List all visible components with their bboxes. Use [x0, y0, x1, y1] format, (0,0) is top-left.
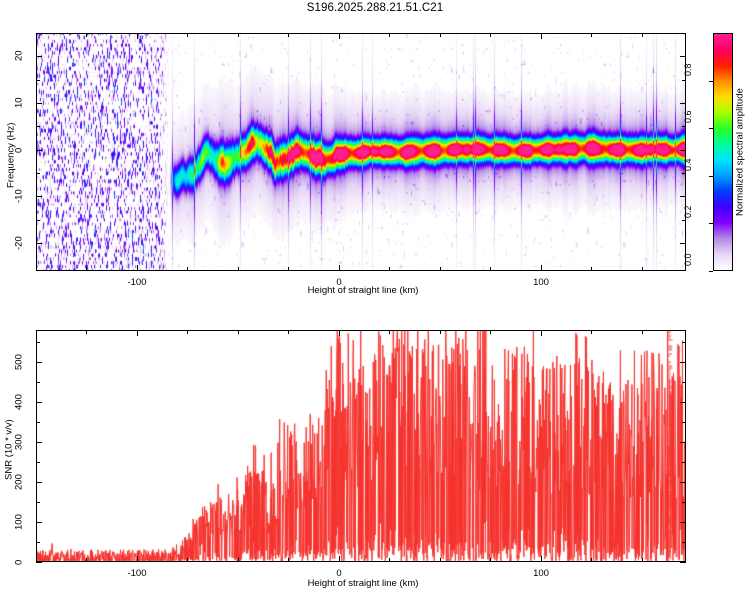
axis-tick — [389, 558, 390, 562]
colorbar-tick-label: 0.6 — [671, 110, 705, 146]
axis-tick — [682, 342, 686, 343]
axis-tick — [36, 196, 42, 197]
axis-tick — [36, 482, 42, 483]
figure-root: S196.2025.288.21.51.C21 -1000100 -20-100… — [0, 0, 750, 600]
axis-tick — [642, 33, 643, 37]
axis-tick-label: 20 — [6, 36, 32, 76]
axis-tick — [137, 33, 138, 39]
axis-tick — [36, 422, 40, 423]
axis-tick — [389, 330, 390, 334]
axis-tick — [490, 330, 491, 334]
axis-tick — [490, 33, 491, 37]
axis-tick — [680, 150, 686, 151]
axis-tick — [288, 267, 289, 271]
axis-tick — [137, 265, 138, 271]
axis-tick — [238, 330, 239, 334]
axis-tick — [541, 265, 542, 271]
colorbar-tick — [709, 81, 713, 82]
axis-tick — [680, 402, 686, 403]
axis-tick — [680, 482, 686, 483]
axis-tick — [36, 173, 40, 174]
axis-tick — [339, 556, 340, 562]
axis-tick — [36, 402, 42, 403]
colorbar-tick-label: 0.4 — [671, 158, 705, 194]
axis-tick — [86, 267, 87, 271]
axis-tick — [490, 558, 491, 562]
axis-tick — [36, 33, 37, 37]
axis-tick — [680, 103, 686, 104]
axis-tick — [36, 522, 42, 523]
axis-tick — [339, 33, 340, 39]
axis-tick — [389, 267, 390, 271]
axis-tick — [36, 362, 42, 363]
axis-tick — [288, 330, 289, 334]
snr-xaxis-title: Height of straight line (km) — [193, 578, 533, 589]
snr-plot-area[interactable] — [36, 330, 686, 562]
axis-tick — [682, 502, 686, 503]
axis-tick — [288, 558, 289, 562]
axis-tick — [642, 330, 643, 334]
axis-tick — [642, 267, 643, 271]
axis-tick — [339, 330, 340, 336]
axis-tick — [682, 462, 686, 463]
axis-tick — [591, 267, 592, 271]
colorbar-gradient — [713, 33, 733, 271]
axis-tick — [36, 462, 40, 463]
axis-tick — [86, 33, 87, 37]
colorbar-tick-label: 0.8 — [671, 63, 705, 99]
spectrogram-plot-area[interactable] — [36, 33, 686, 271]
axis-tick — [680, 196, 686, 197]
axis-tick — [238, 558, 239, 562]
spectrogram-canvas[interactable] — [36, 33, 686, 271]
axis-tick — [389, 33, 390, 37]
axis-tick — [238, 267, 239, 271]
axis-tick — [680, 562, 686, 563]
axis-tick — [288, 33, 289, 37]
axis-tick — [36, 103, 42, 104]
colorbar-tick-label: 0.2 — [671, 205, 705, 241]
axis-tick — [541, 33, 542, 39]
colorbar-tick — [709, 128, 713, 129]
axis-tick — [339, 265, 340, 271]
colorbar-tick-label: 0.0 — [671, 253, 705, 289]
axis-tick — [680, 362, 686, 363]
spectrogram-yaxis-title: Frequency (Hz) — [4, 80, 18, 230]
axis-tick — [187, 267, 188, 271]
axis-tick — [680, 442, 686, 443]
axis-tick — [36, 243, 42, 244]
axis-tick — [490, 267, 491, 271]
colorbar-tick — [709, 223, 713, 224]
axis-tick — [36, 542, 40, 543]
axis-tick — [187, 558, 188, 562]
axis-tick-label: -100 — [107, 277, 167, 288]
colorbar-tick — [709, 176, 713, 177]
axis-tick — [682, 542, 686, 543]
axis-tick — [86, 558, 87, 562]
axis-tick — [682, 382, 686, 383]
axis-tick — [36, 342, 40, 343]
axis-tick — [36, 330, 37, 334]
axis-tick-label: -100 — [107, 568, 167, 579]
figure-title: S196.2025.288.21.51.C21 — [0, 2, 750, 14]
axis-tick — [541, 330, 542, 336]
axis-tick — [440, 267, 441, 271]
axis-tick — [137, 556, 138, 562]
spectrogram-xaxis-title: Height of straight line (km) — [193, 285, 533, 296]
axis-tick — [680, 56, 686, 57]
axis-tick — [36, 442, 42, 443]
axis-tick — [591, 33, 592, 37]
axis-tick — [541, 556, 542, 562]
axis-tick-label: 0 — [6, 542, 32, 582]
axis-tick — [591, 330, 592, 334]
colorbar-tick — [709, 271, 713, 272]
axis-tick — [137, 330, 138, 336]
axis-tick — [86, 330, 87, 334]
axis-tick — [36, 562, 42, 563]
axis-tick — [682, 422, 686, 423]
axis-tick-label: 500 — [6, 342, 32, 382]
axis-tick — [680, 522, 686, 523]
axis-tick — [642, 558, 643, 562]
colorbar-title: Normalized spectral amplitude — [733, 33, 747, 271]
axis-tick — [440, 330, 441, 334]
axis-tick — [36, 502, 40, 503]
axis-tick — [187, 33, 188, 37]
axis-tick — [187, 330, 188, 334]
axis-tick — [36, 382, 40, 383]
snr-canvas[interactable] — [36, 330, 686, 562]
axis-tick — [238, 33, 239, 37]
axis-tick — [680, 243, 686, 244]
axis-tick — [36, 56, 42, 57]
snr-yaxis-title: SNR (10 * v/v) — [2, 385, 16, 515]
axis-tick — [36, 220, 40, 221]
axis-tick — [440, 33, 441, 37]
axis-tick — [591, 558, 592, 562]
axis-tick — [36, 150, 42, 151]
axis-tick — [36, 126, 40, 127]
colorbar — [713, 33, 733, 271]
axis-tick — [36, 80, 40, 81]
axis-tick — [36, 267, 37, 271]
axis-tick — [440, 558, 441, 562]
